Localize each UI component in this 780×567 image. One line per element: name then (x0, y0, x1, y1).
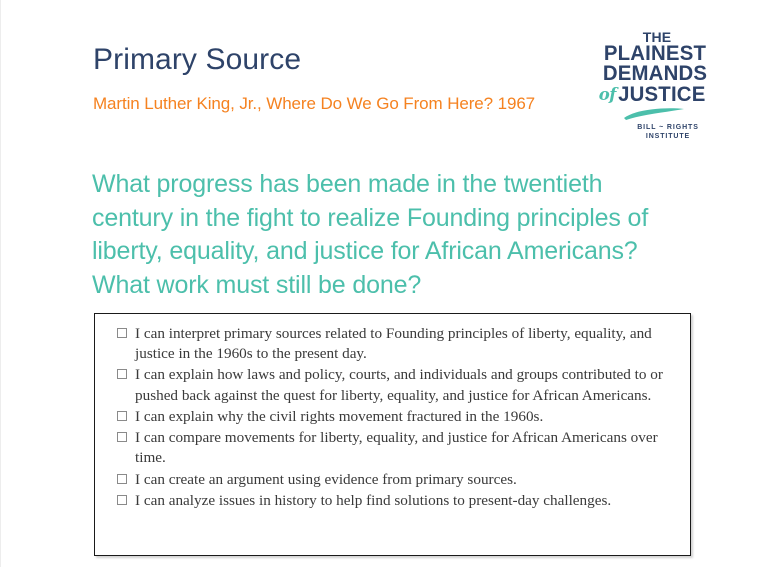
logo-line-demands: DEMANDS (601, 64, 710, 84)
institute-line-2: INSTITUTE (625, 132, 711, 141)
logo-line-justice: of JUSTICE (601, 84, 710, 105)
list-item[interactable]: I can analyze issues in history to help … (117, 491, 674, 511)
list-item[interactable]: I can interpret primary sources related … (117, 324, 674, 364)
logo-wordmark: THE PLAINEST DEMANDS of JUSTICE (599, 30, 711, 105)
objectives-list: I can interpret primary sources related … (95, 314, 690, 511)
source-citation: Martin Luther King, Jr., Where Do We Go … (93, 92, 573, 116)
objective-text: I can interpret primary sources related … (135, 324, 674, 364)
checkbox-icon[interactable] (117, 495, 127, 505)
slide-canvas: Primary Source Martin Luther King, Jr., … (0, 0, 780, 567)
list-item[interactable]: I can create an argument using evidence … (117, 470, 674, 490)
logo-script-of: of (599, 85, 616, 106)
checkbox-icon[interactable] (117, 432, 127, 442)
list-item[interactable]: I can explain why the civil rights movem… (117, 407, 674, 427)
learning-objectives-box: I can interpret primary sources related … (94, 313, 691, 556)
objective-text: I can explain how laws and policy, court… (135, 365, 674, 405)
institute-line-1: BILL ~ RIGHTS (625, 123, 711, 132)
list-item[interactable]: I can explain how laws and policy, court… (117, 365, 674, 405)
checkbox-icon[interactable] (117, 411, 127, 421)
institute-name: BILL ~ RIGHTS INSTITUTE (599, 123, 711, 141)
objective-text: I can analyze issues in history to help … (135, 491, 674, 511)
page-title: Primary Source (93, 43, 301, 78)
logo-justice-text: JUSTICE (618, 83, 705, 106)
checkbox-icon[interactable] (117, 328, 127, 338)
objective-text: I can create an argument using evidence … (135, 470, 674, 490)
logo-line-plainest: PLAINEST (601, 44, 710, 64)
checkbox-icon[interactable] (117, 369, 127, 379)
objective-text: I can compare movements for liberty, equ… (135, 428, 674, 468)
checkbox-icon[interactable] (117, 474, 127, 484)
guiding-question: What progress has been made in the twent… (92, 168, 682, 302)
list-item[interactable]: I can compare movements for liberty, equ… (117, 428, 674, 468)
bill-of-rights-institute-logo: THE PLAINEST DEMANDS of JUSTICE BILL ~ R… (599, 30, 711, 142)
swoosh-icon (599, 107, 711, 123)
objective-text: I can explain why the civil rights movem… (135, 407, 674, 427)
